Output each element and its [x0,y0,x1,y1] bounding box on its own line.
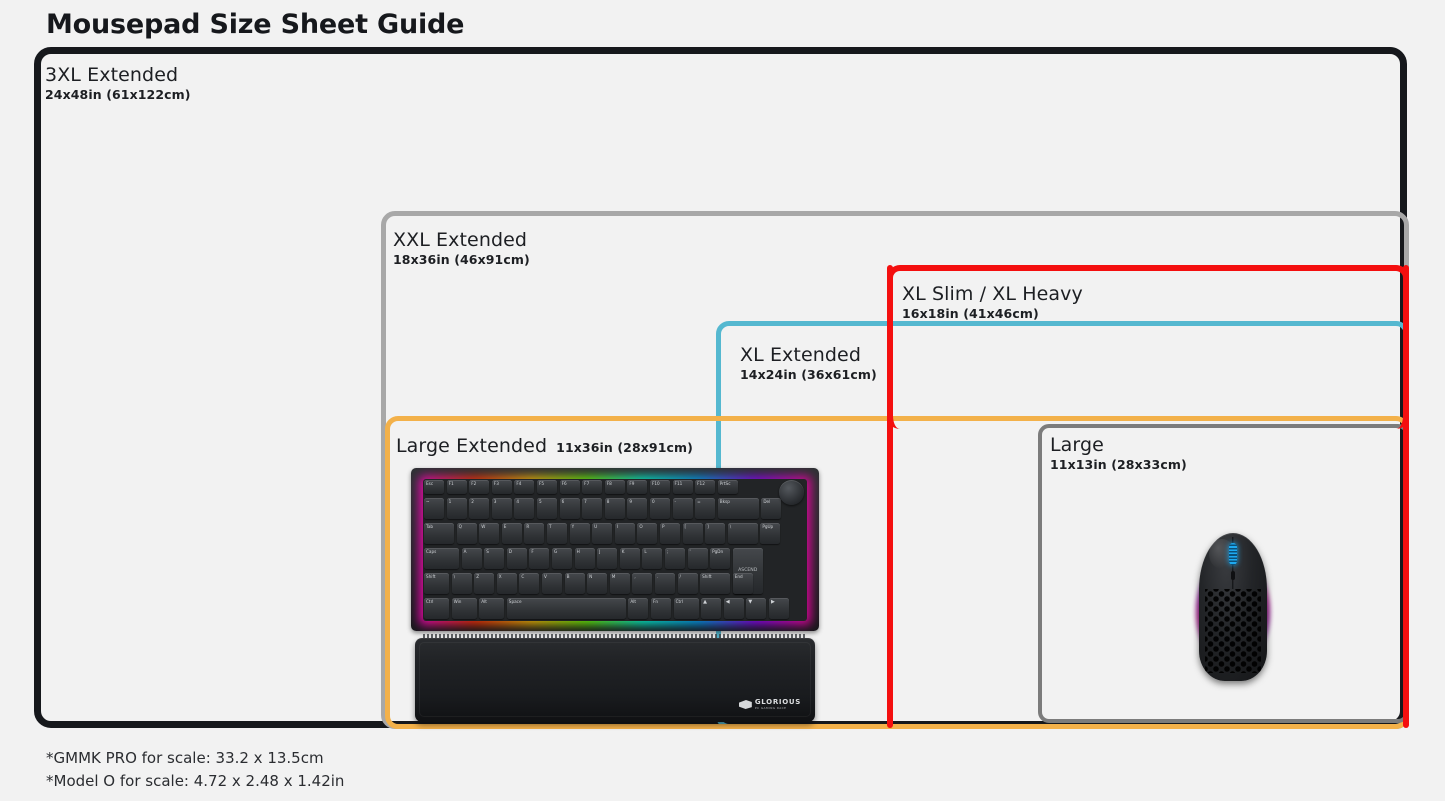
key-ctrl[interactable]: Ctrl [674,598,699,619]
key-c[interactable]: C [519,573,539,594]
key-f[interactable]: F [529,548,549,569]
mouse-dpi-button [1231,571,1235,580]
key-u[interactable]: U [592,523,612,544]
key-[interactable]: - [673,498,693,519]
key-s[interactable]: S [484,548,504,569]
key-pgup[interactable]: PgUp [760,523,780,544]
pad-name-xl-extended: XL Extended [740,344,877,366]
pad-outline-xl-slim-heavy-left-edge [887,265,893,728]
wrist-rest-stitching [423,634,807,638]
key-fn[interactable]: Fn [651,598,671,619]
key-h[interactable]: H [575,548,595,569]
mouse-model-o [1194,529,1272,684]
pad-label-xl-slim-heavy: XL Slim / XL Heavy 16x18in (41x46cm) [902,283,1083,321]
pad-name-large-extended: Large Extended [396,435,547,457]
pad-dimensions-xl-slim-heavy: 16x18in (41x46cm) [902,306,1083,321]
key-alt[interactable]: Alt [479,598,504,619]
key-f2[interactable]: F2 [469,480,489,494]
key-v[interactable]: V [542,573,562,594]
key-3[interactable]: 3 [492,498,512,519]
key-t[interactable]: T [547,523,567,544]
key-caps[interactable]: Caps [424,548,459,569]
key-r[interactable]: R [524,523,544,544]
key-e[interactable]: E [502,523,522,544]
glorious-logo: GLORIOUS PC GAMING RACE [739,699,801,710]
key-q[interactable]: Q [457,523,477,544]
key-[interactable]: \ [452,573,472,594]
pad-label-xxl-extended: XXL Extended 18x36in (46x91cm) [393,229,530,267]
key-[interactable]: ] [705,523,725,544]
key-[interactable]: . [655,573,675,594]
key-arrow-up[interactable]: ▲ [701,598,721,619]
key-w[interactable]: W [479,523,499,544]
pad-outline-xl-slim-heavy-right-edge [1403,265,1409,728]
key-arrow-left[interactable]: ◀ [724,598,744,619]
key-[interactable]: ~ [424,498,444,519]
pad-dimensions-xxl-extended: 18x36in (46x91cm) [393,252,530,267]
pad-dimensions-xl-extended: 14x24in (36x61cm) [740,367,877,382]
key-[interactable]: \ [728,523,758,544]
key-space[interactable]: Space [507,598,626,619]
key-d[interactable]: D [507,548,527,569]
glorious-mark-icon [739,700,752,709]
key-f1[interactable]: F1 [447,480,467,494]
key-[interactable]: , [632,573,652,594]
keyboard-body: EscF1F2F3F4F5F6F7F8F9F10F11F12PrtSc ~123… [411,468,819,631]
key-f7[interactable]: F7 [582,480,602,494]
key-o[interactable]: O [637,523,657,544]
pad-label-large: Large 11x13in (28x33cm) [1050,434,1187,472]
pad-dimensions-3xl-extended: 24x48in (61x122cm) [45,87,191,102]
mouse-shell [1199,533,1267,681]
key-[interactable]: = [695,498,715,519]
glorious-tagline: PC GAMING RACE [755,707,801,710]
key-f5[interactable]: F5 [537,480,557,494]
key-f8[interactable]: F8 [605,480,625,494]
key-6[interactable]: 6 [560,498,580,519]
key-a[interactable]: A [462,548,482,569]
pad-name-xxl-extended: XXL Extended [393,229,530,251]
key-0[interactable]: 0 [650,498,670,519]
key-9[interactable]: 9 [627,498,647,519]
wrist-rest: GLORIOUS PC GAMING RACE [415,638,815,722]
pad-label-xl-extended: XL Extended 14x24in (36x61cm) [740,344,877,382]
key-[interactable]: ; [665,548,685,569]
key-pgdn[interactable]: PgDn [710,548,730,569]
glorious-wordmark: GLORIOUS [755,699,801,706]
key-m[interactable]: M [610,573,630,594]
key-shift[interactable]: Shift [424,573,449,594]
key-8[interactable]: 8 [605,498,625,519]
pad-name-large: Large [1050,434,1187,456]
key-f6[interactable]: F6 [560,480,580,494]
key-7[interactable]: 7 [582,498,602,519]
key-l[interactable]: L [642,548,662,569]
key-f11[interactable]: F11 [673,480,693,494]
key-prtsc[interactable]: PrtSc [718,480,738,494]
key-esc[interactable]: Esc [424,480,444,494]
key-arrow-down[interactable]: ▼ [746,598,766,619]
mouse-honeycomb-shell [1205,589,1261,673]
pad-dimensions-large: 11x13in (28x33cm) [1050,457,1187,472]
key-f9[interactable]: F9 [627,480,647,494]
pad-dimensions-large-extended: 11x36in (28x91cm) [556,440,693,455]
key-f12[interactable]: F12 [695,480,715,494]
page-title: Mousepad Size Sheet Guide [46,9,464,40]
key-5[interactable]: 5 [537,498,557,519]
footnote-keyboard-scale: *GMMK PRO for scale: 33.2 x 13.5cm [46,747,344,770]
footnotes: *GMMK PRO for scale: 33.2 x 13.5cm *Mode… [46,747,344,793]
key-alt[interactable]: Alt [628,598,648,619]
pad-name-3xl-extended: 3XL Extended [45,64,191,86]
key-n[interactable]: N [587,573,607,594]
key-shift[interactable]: Shift [700,573,730,594]
key-g[interactable]: G [552,548,572,569]
key-k[interactable]: K [620,548,640,569]
key-tab[interactable]: Tab [424,523,454,544]
key-[interactable]: ' [688,548,708,569]
keyboard-rotary-knob[interactable] [779,480,804,505]
key-del[interactable]: Del [761,498,781,519]
key-1[interactable]: 1 [447,498,467,519]
keyboard-keys: EscF1F2F3F4F5F6F7F8F9F10F11F12PrtSc ~123… [424,480,806,620]
key-b[interactable]: B [565,573,585,594]
key-p[interactable]: P [660,523,680,544]
footnote-mouse-scale: *Model O for scale: 4.72 x 2.48 x 1.42in [46,770,344,793]
key-[interactable]: [ [683,523,703,544]
key-f10[interactable]: F10 [650,480,670,494]
pad-label-3xl-extended: 3XL Extended 24x48in (61x122cm) [45,64,191,102]
key-x[interactable]: X [497,573,517,594]
key-ctrl[interactable]: Ctrl [424,598,449,619]
pad-label-large-extended: Large Extended 11x36in (28x91cm) [396,435,693,457]
key-i[interactable]: I [615,523,635,544]
key-end[interactable]: End [733,573,753,594]
key-bksp[interactable]: Bksp [718,498,759,519]
key-j[interactable]: J [597,548,617,569]
key-[interactable]: / [678,573,698,594]
size-guide-canvas: Mousepad Size Sheet Guide 3XL Extended 2… [0,0,1445,801]
key-z[interactable]: Z [474,573,494,594]
key-arrow-right[interactable]: ▶ [769,598,789,619]
key-f4[interactable]: F4 [514,480,534,494]
key-win[interactable]: Win [452,598,477,619]
key-4[interactable]: 4 [514,498,534,519]
keyboard-gmmk-pro: EscF1F2F3F4F5F6F7F8F9F10F11F12PrtSc ~123… [411,468,819,726]
key-y[interactable]: Y [570,523,590,544]
pad-name-xl-slim-heavy: XL Slim / XL Heavy [902,283,1083,305]
key-f3[interactable]: F3 [492,480,512,494]
key-2[interactable]: 2 [469,498,489,519]
mouse-scroll-wheel-icon [1229,543,1237,565]
